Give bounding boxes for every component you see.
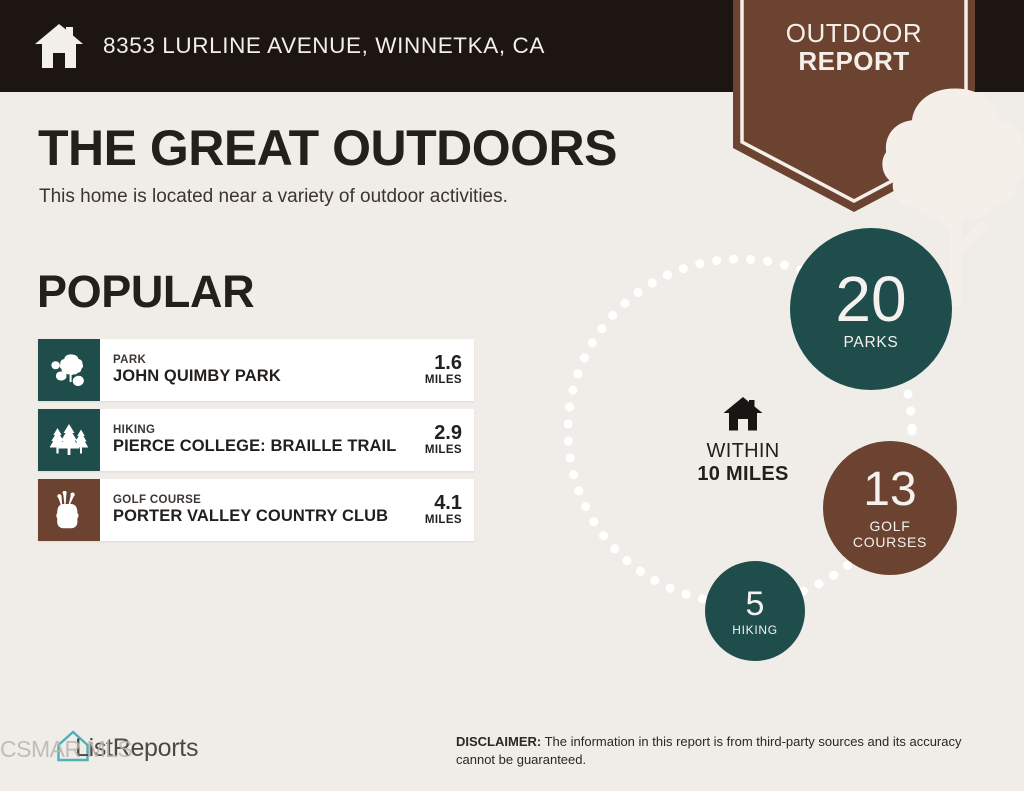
poi-distance: 2.9 MILES (406, 409, 474, 471)
poi-category: GOLF COURSE (113, 493, 406, 507)
poi-icon-tile (38, 479, 100, 541)
stat-label-second-line: COURSES (853, 534, 927, 550)
park-icon (51, 353, 87, 387)
poi-name: PIERCE COLLEGE: BRAILLE TRAIL (113, 437, 406, 457)
poi-distance-unit: MILES (425, 374, 462, 388)
poi-name: JOHN QUIMBY PARK (113, 367, 406, 387)
stat-bubble-hiking[interactable]: 5 HIKING (705, 561, 805, 661)
poi-text: PARK JOHN QUIMBY PARK (100, 339, 406, 401)
golf-bag-icon (54, 491, 84, 529)
stat-bubble-golf-courses[interactable]: 13 GOLF COURSES (823, 441, 957, 575)
list-item[interactable]: HIKING PIERCE COLLEGE: BRAILLE TRAIL 2.9… (38, 409, 474, 471)
center-line-2: 10 MILES (668, 463, 818, 486)
stat-value: 5 (746, 587, 765, 621)
poi-icon-tile (38, 339, 100, 401)
poi-icon-tile (38, 409, 100, 471)
list-item[interactable]: GOLF COURSE PORTER VALLEY COUNTRY CLUB 4… (38, 479, 474, 541)
stat-label: PARKS (844, 335, 899, 351)
stat-label: HIKING (732, 624, 778, 636)
poi-distance-value: 4.1 (434, 492, 462, 514)
disclaimer: DISCLAIMER: The information in this repo… (456, 733, 996, 768)
stat-bubble-parks[interactable]: 20 PARKS (790, 228, 952, 390)
poi-distance-value: 2.9 (434, 422, 462, 444)
poi-category: PARK (113, 353, 406, 367)
page-title: THE GREAT OUTDOORS (38, 119, 617, 177)
poi-category: HIKING (113, 423, 406, 437)
diagram-center-label: WITHIN 10 MILES (668, 396, 818, 486)
popular-heading: POPULAR (37, 266, 254, 318)
property-address: 8353 LURLINE AVENUE, WINNETKA, CA (103, 33, 545, 59)
stat-label: GOLF (870, 518, 911, 534)
poi-distance-unit: MILES (425, 444, 462, 458)
stat-value: 13 (863, 466, 916, 514)
poi-name: PORTER VALLEY COUNTRY CLUB (113, 507, 406, 527)
poi-distance-unit: MILES (425, 514, 462, 528)
poi-text: HIKING PIERCE COLLEGE: BRAILLE TRAIL (100, 409, 406, 471)
house-icon (668, 396, 818, 432)
poi-distance: 1.6 MILES (406, 339, 474, 401)
mls-watermark: CSMAR MLS (0, 736, 132, 763)
poi-text: GOLF COURSE PORTER VALLEY COUNTRY CLUB (100, 479, 406, 541)
house-icon (33, 22, 85, 70)
center-line-1: WITHIN (668, 440, 818, 463)
poi-distance: 4.1 MILES (406, 479, 474, 541)
disclaimer-label: DISCLAIMER: (456, 734, 541, 749)
page-subtitle: This home is located near a variety of o… (39, 186, 508, 208)
popular-list: PARK JOHN QUIMBY PARK 1.6 MILES HIKING P (38, 339, 474, 549)
outdoor-report-badge: OUTDOOR REPORT (733, 0, 975, 212)
pine-trees-icon (50, 424, 88, 456)
poi-distance-value: 1.6 (434, 352, 462, 374)
header-content: 8353 LURLINE AVENUE, WINNETKA, CA (33, 0, 545, 92)
list-item[interactable]: PARK JOHN QUIMBY PARK 1.6 MILES (38, 339, 474, 401)
stat-value: 20 (835, 267, 906, 331)
amenities-diagram: 20 PARKS 13 GOLF COURSES 5 HIKING WITHIN… (540, 228, 1024, 678)
